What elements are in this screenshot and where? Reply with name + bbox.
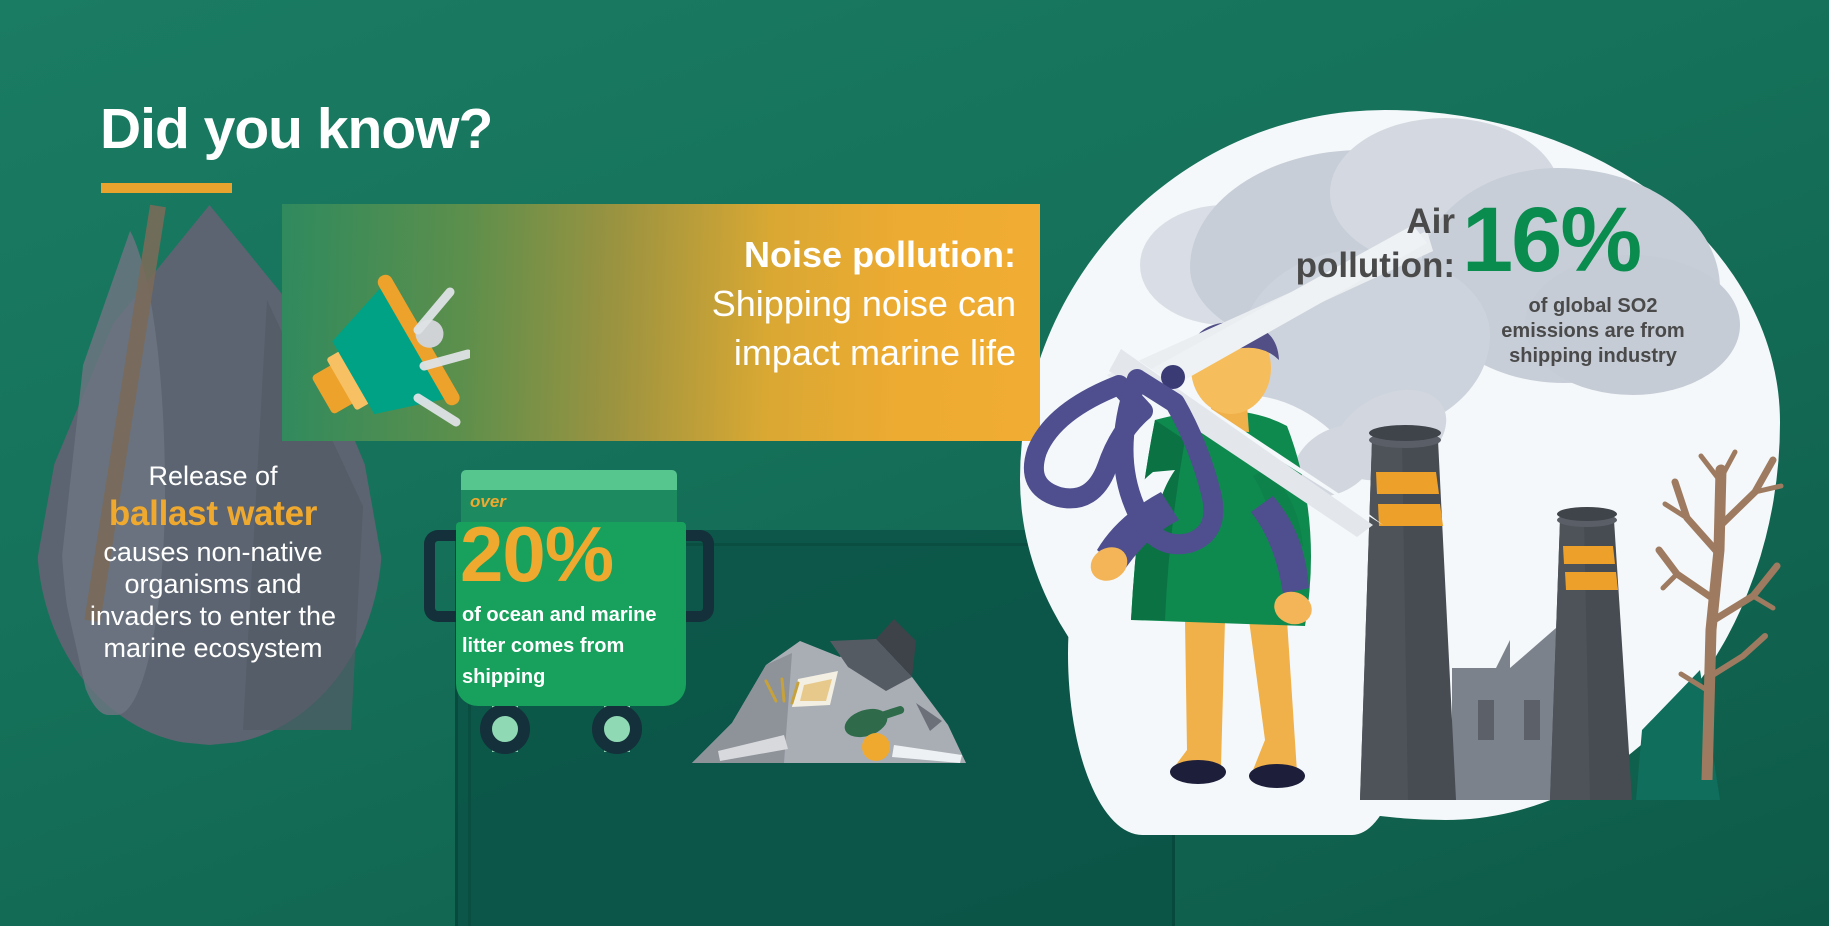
ballast-water-text: Release of ballast water causes non-nati… bbox=[48, 460, 378, 664]
noise-heading: Noise pollution: bbox=[586, 230, 1016, 279]
trash-pile-icon bbox=[680, 605, 970, 765]
ballast-line-4: invaders to enter the bbox=[48, 600, 378, 632]
ballast-line-3: organisms and bbox=[48, 568, 378, 600]
air-sub-line-2: emissions are from bbox=[1468, 319, 1718, 344]
noise-pollution-text: Noise pollution: Shipping noise can impa… bbox=[586, 230, 1016, 377]
trash-bin-icon: over 20% of ocean and marine litter come… bbox=[424, 470, 714, 760]
air-pollution-label: Air pollution: bbox=[1210, 200, 1455, 288]
air-subtext: of global SO2 emissions are from shippin… bbox=[1468, 294, 1718, 369]
ballast-line-1: Release of bbox=[48, 460, 378, 492]
air-label-line-2: pollution: bbox=[1210, 244, 1455, 288]
litter-line-1: of ocean and marine bbox=[462, 600, 697, 631]
bare-tree-icon bbox=[1615, 430, 1815, 780]
megaphone-icon bbox=[290, 270, 470, 450]
litter-subtext: of ocean and marine litter comes from sh… bbox=[462, 600, 697, 693]
title-underline bbox=[101, 183, 232, 193]
litter-line-2: litter comes from bbox=[462, 631, 697, 662]
air-label-line-1: Air bbox=[1210, 200, 1455, 244]
ballast-line-2: causes non-native bbox=[48, 536, 378, 568]
noise-line-2: impact marine life bbox=[586, 328, 1016, 377]
noise-line-1: Shipping noise can bbox=[586, 279, 1016, 328]
litter-over-label: over bbox=[470, 492, 506, 512]
bin-wheel-left bbox=[480, 704, 530, 754]
bin-wheel-right bbox=[592, 704, 642, 754]
litter-line-3: shipping bbox=[462, 662, 697, 693]
page-title: Did you know? bbox=[100, 96, 492, 162]
litter-percent: 20% bbox=[460, 514, 700, 594]
air-percent: 16% bbox=[1462, 192, 1640, 288]
ballast-highlight: ballast water bbox=[48, 492, 378, 536]
air-sub-line-1: of global SO2 bbox=[1468, 294, 1718, 319]
infographic-canvas: Release of ballast water causes non-nati… bbox=[0, 0, 1829, 926]
ballast-line-5: marine ecosystem bbox=[48, 632, 378, 664]
air-sub-line-3: shipping industry bbox=[1468, 344, 1718, 369]
bin-lid bbox=[461, 470, 677, 492]
